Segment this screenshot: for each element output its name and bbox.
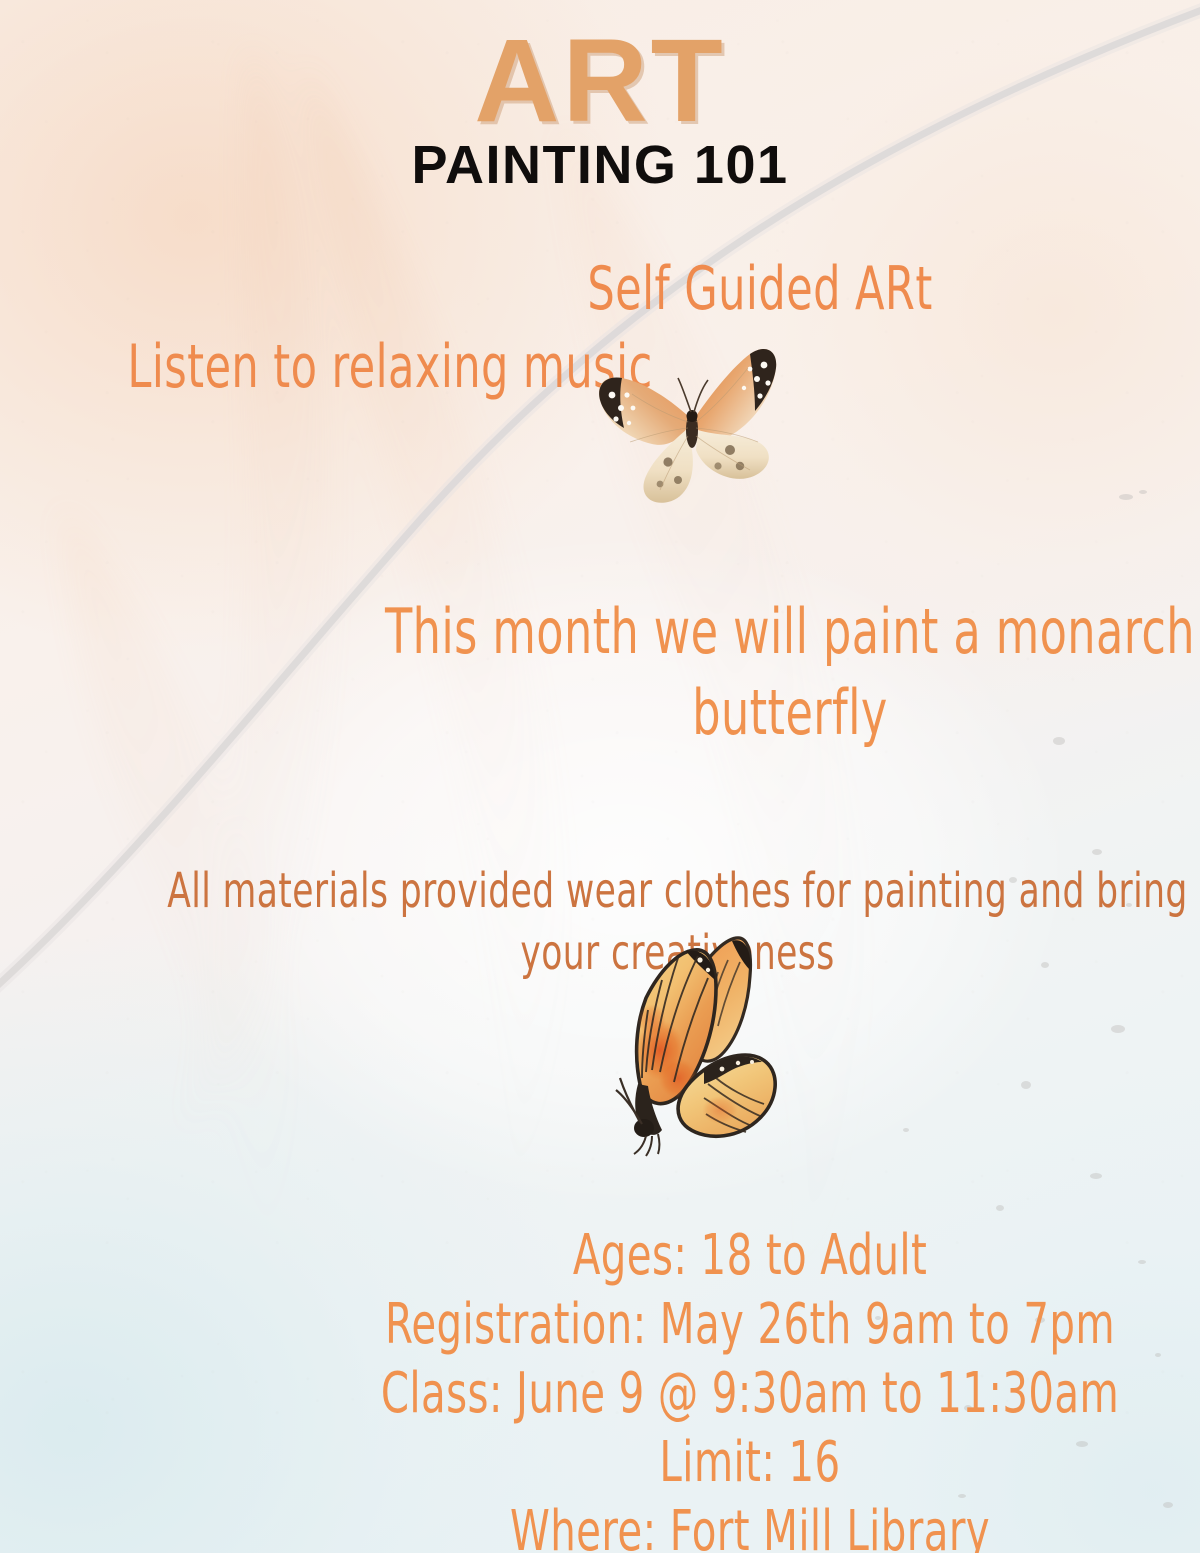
background-cool-wash-left [0,0,1200,1553]
detail-ages: Ages: 18 to Adult [150,1222,1200,1291]
page-subtitle-painting-101: PAINTING 101 [0,138,1200,192]
tagline-this-month-monarch: This month we will paint a monarch butte… [350,592,1200,753]
background-center-glow [0,0,1200,1553]
background-warm-wash-left [0,0,1200,1553]
detail-registration: Registration: May 26th 9am to 7pm [150,1291,1200,1360]
background-cool-wash-right [0,0,1200,1553]
background-paper-grain [0,0,1200,1553]
decorative-curve-line [0,0,1200,1553]
detail-limit: Limit: 16 [150,1429,1200,1498]
background-base-gradient [0,0,1200,1553]
butterfly-top-icon [592,338,792,513]
poster-canvas: ART PAINTING 101 Self Guided ARt Listen … [0,0,1200,1553]
event-details-block: Ages: 18 to Adult Registration: May 26th… [150,1222,1200,1553]
butterfly-bottom-monarch-icon [612,932,812,1158]
background-warm-wash-right [0,0,1200,1553]
detail-where: Where: Fort Mill Library [150,1498,1200,1553]
page-title-art: ART [0,22,1200,140]
background-speckles [0,0,1200,1553]
background-butterfly-watermark [0,0,1200,1553]
tagline-self-guided: Self Guided ARt [416,258,1104,321]
detail-class: Class: June 9 @ 9:30am to 11:30am [150,1360,1200,1429]
